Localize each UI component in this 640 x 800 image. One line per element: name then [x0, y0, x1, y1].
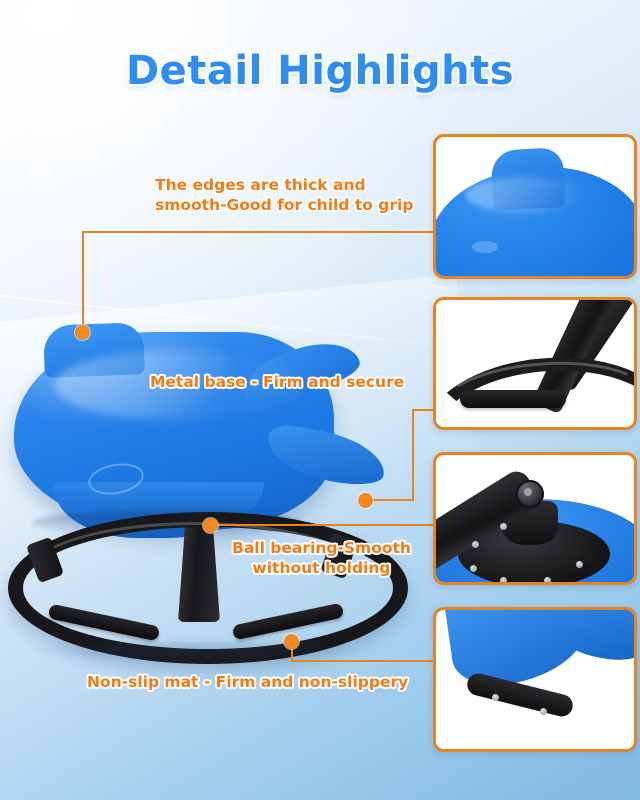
bearing-screw: [500, 577, 507, 582]
mat-screw: [540, 708, 547, 715]
callout-edges-line-horizontal: [82, 231, 434, 233]
callout-edges-dot: [75, 325, 90, 340]
thumbnail-edges[interactable]: [433, 134, 637, 279]
callout-metal-base-label: Metal base - Firm and secure: [150, 372, 404, 392]
callout-non-slip-line-horizontal: [291, 660, 436, 662]
callout-non-slip-label: Non-slip mat - Firm and non-slippery: [87, 672, 408, 692]
thumbnail-metal-base[interactable]: [433, 297, 637, 430]
product-image: [0, 300, 420, 670]
callout-ball-bearing-dot: [203, 518, 218, 533]
callout-edges-line-vertical: [82, 231, 84, 332]
thumbnail-non-slip-mat-photo: [436, 610, 634, 749]
bearing-screw: [472, 541, 479, 548]
callout-edges-label: The edges are thick and smooth-Good for …: [155, 175, 413, 216]
product-seat: [14, 324, 386, 539]
page-title: Detail Highlights: [0, 48, 640, 94]
thumbnail-ball-bearing[interactable]: [433, 452, 637, 585]
bearing-screw: [470, 565, 477, 572]
callout-non-slip-dot: [284, 634, 299, 649]
callout-metal-base-dot: [358, 493, 373, 508]
callout-metal-base-line-vertical: [412, 409, 414, 501]
thumbnail-non-slip-mat[interactable]: [433, 607, 637, 752]
thumbnail-metal-base-photo: [436, 300, 634, 427]
blue-edge-highlight: [466, 177, 586, 213]
callout-ball-bearing-line-horizontal: [210, 524, 436, 526]
infographic-canvas: Detail Highlights The edges are thick an…: [0, 0, 640, 800]
bearing-knob-icon: [516, 480, 544, 508]
metal-base-pad: [460, 390, 566, 408]
bearing-screw: [544, 577, 551, 582]
mat-screw: [492, 694, 499, 701]
bearing-screw: [500, 523, 507, 530]
bearing-screw: [576, 561, 583, 568]
thumbnail-edges-photo: [436, 137, 634, 276]
blue-edge-mark: [472, 241, 498, 253]
thumbnail-ball-bearing-photo: [436, 455, 634, 582]
metal-ring-tube: [436, 349, 634, 427]
callout-ball-bearing-label: Ball bearing-Smooth without holding: [232, 538, 411, 579]
